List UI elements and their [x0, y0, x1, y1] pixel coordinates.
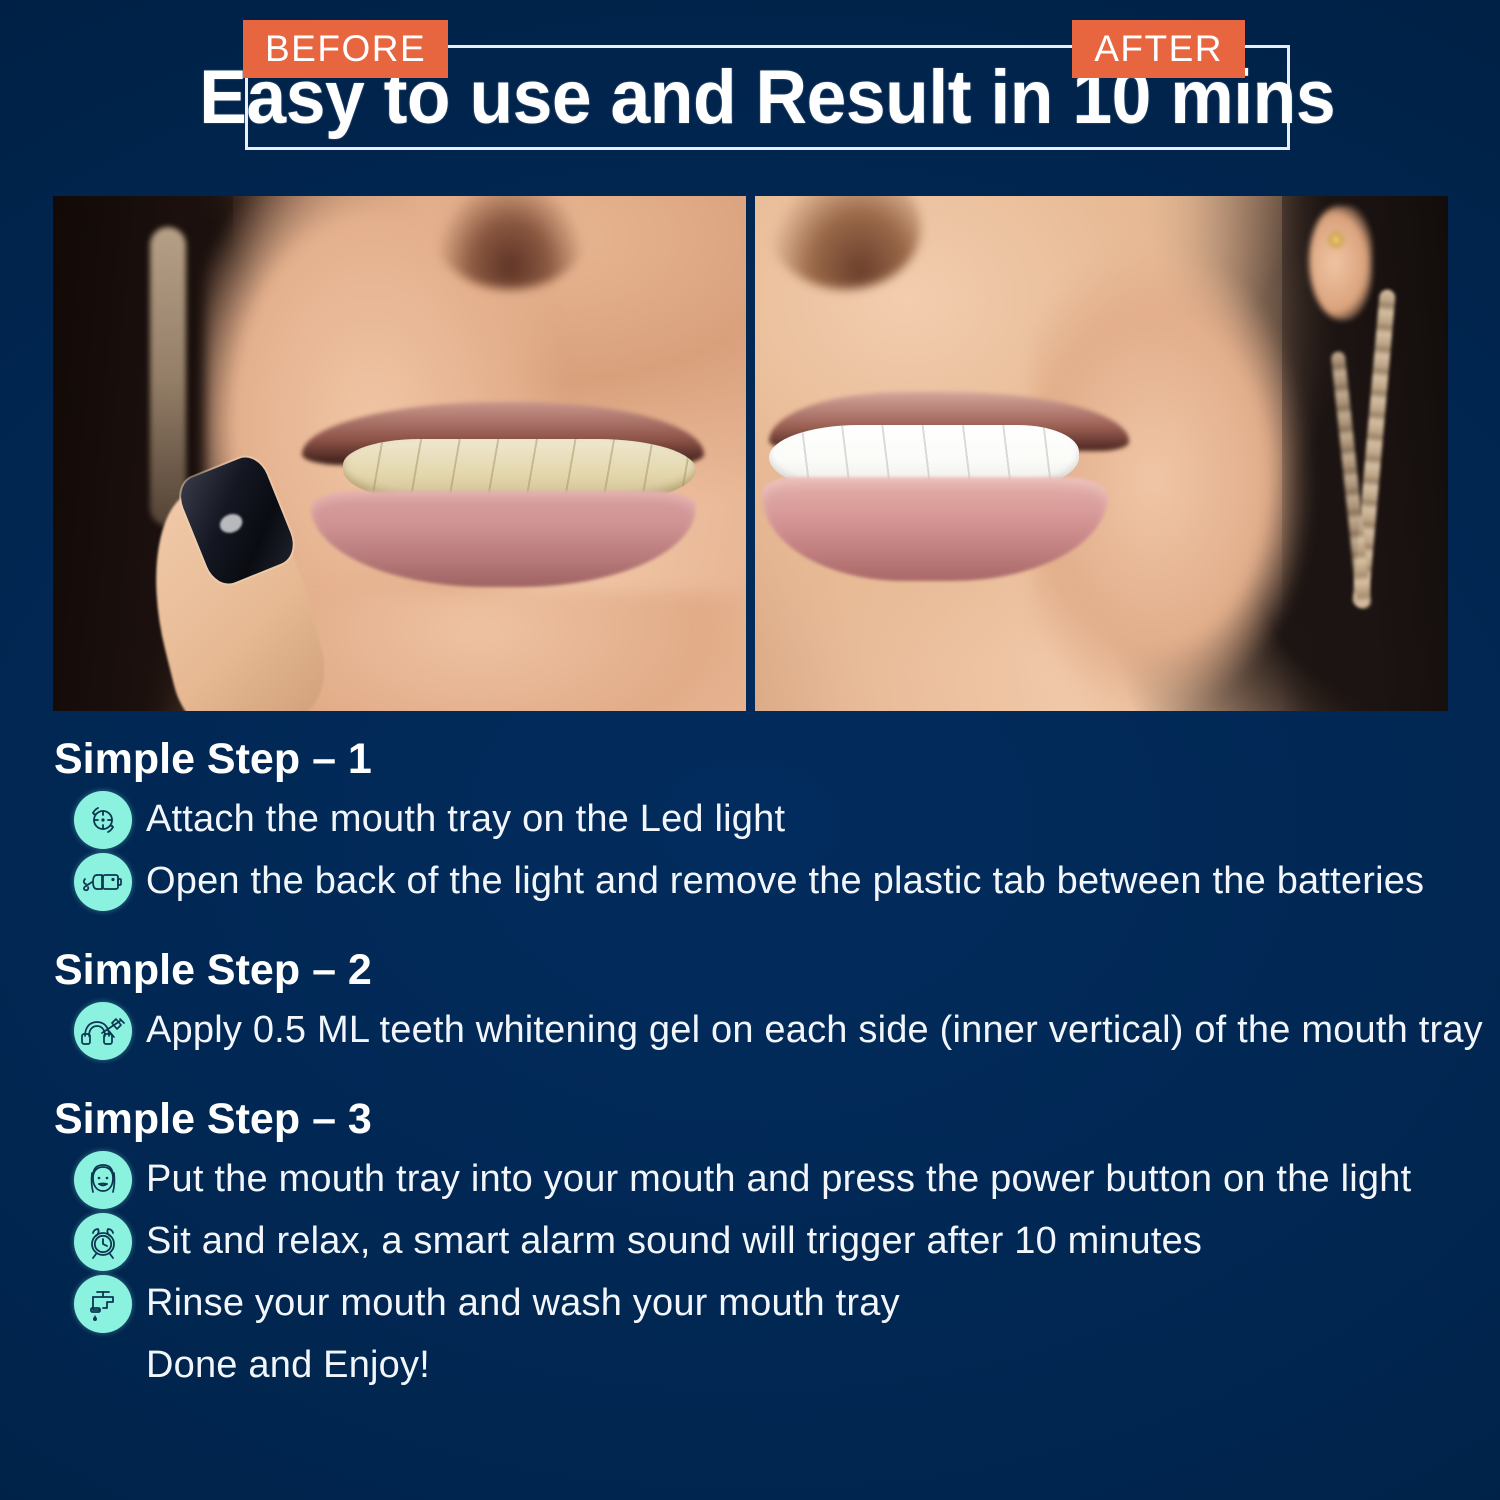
icon-slot	[64, 1001, 142, 1061]
icon-slot	[64, 1150, 142, 1210]
list-item: Apply 0.5 ML teeth whitening gel on each…	[52, 1001, 1452, 1061]
step-3-heading: Simple Step – 3	[54, 1095, 1452, 1144]
step-item-text: Rinse your mouth and wash your mouth tra…	[142, 1280, 900, 1328]
step-item-text: Sit and relax, a smart alarm sound will …	[142, 1218, 1202, 1266]
after-badge: AFTER	[1072, 20, 1245, 78]
steps-section: Simple Step – 1	[52, 735, 1452, 1402]
before-after-comparison	[53, 196, 1448, 711]
step-block-3: Simple Step – 3	[52, 1095, 1452, 1396]
list-item: Open the back of the light and remove th…	[52, 852, 1452, 912]
woman-face-icon	[74, 1151, 132, 1209]
icon-slot	[64, 1212, 142, 1272]
before-chin	[261, 593, 746, 711]
before-mouth	[302, 402, 704, 587]
step-block-2: Simple Step – 2	[52, 946, 1452, 1061]
list-item: Put the mouth tray into your mouth and p…	[52, 1150, 1452, 1210]
after-ear	[1309, 206, 1371, 319]
before-lower-lip	[311, 491, 697, 587]
icon-slot	[64, 852, 142, 912]
tray-syringe-icon	[74, 1002, 132, 1060]
after-gold-stud	[1328, 232, 1344, 248]
step-1-heading: Simple Step – 1	[54, 735, 1452, 784]
before-photo	[53, 196, 746, 711]
step-block-1: Simple Step – 1	[52, 735, 1452, 912]
battery-device-icon	[74, 853, 132, 911]
infographic-poster: Easy to use and Result in 10 mins	[0, 0, 1500, 1500]
step-3-items: Put the mouth tray into your mouth and p…	[52, 1150, 1452, 1396]
before-earring	[150, 227, 186, 526]
after-lower-lip	[762, 477, 1108, 581]
step-item-text: Done and Enjoy!	[142, 1342, 430, 1390]
step-item-text: Attach the mouth tray on the Led light	[142, 796, 785, 844]
before-badge: BEFORE	[243, 20, 448, 78]
icon-slot	[64, 790, 142, 850]
list-item: Done and Enjoy!	[52, 1336, 1452, 1396]
step-item-text: Put the mouth tray into your mouth and p…	[142, 1156, 1411, 1204]
list-item: Rinse your mouth and wash your mouth tra…	[52, 1274, 1452, 1334]
faucet-icon	[74, 1275, 132, 1333]
alarm-clock-icon	[74, 1213, 132, 1271]
after-photo	[755, 196, 1448, 711]
list-item: Attach the mouth tray on the Led light	[52, 790, 1452, 850]
step-1-items: Attach the mouth tray on the Led light	[52, 790, 1452, 912]
step-item-text: Apply 0.5 ML teeth whitening gel on each…	[142, 1007, 1483, 1055]
after-mouth	[769, 392, 1129, 577]
after-nose	[769, 196, 921, 289]
list-item: Sit and relax, a smart alarm sound will …	[52, 1212, 1452, 1272]
step-2-heading: Simple Step – 2	[54, 946, 1452, 995]
rotate-attach-icon	[74, 791, 132, 849]
step-2-items: Apply 0.5 ML teeth whitening gel on each…	[52, 1001, 1452, 1061]
icon-slot	[64, 1274, 142, 1334]
step-item-text: Open the back of the light and remove th…	[142, 858, 1424, 906]
